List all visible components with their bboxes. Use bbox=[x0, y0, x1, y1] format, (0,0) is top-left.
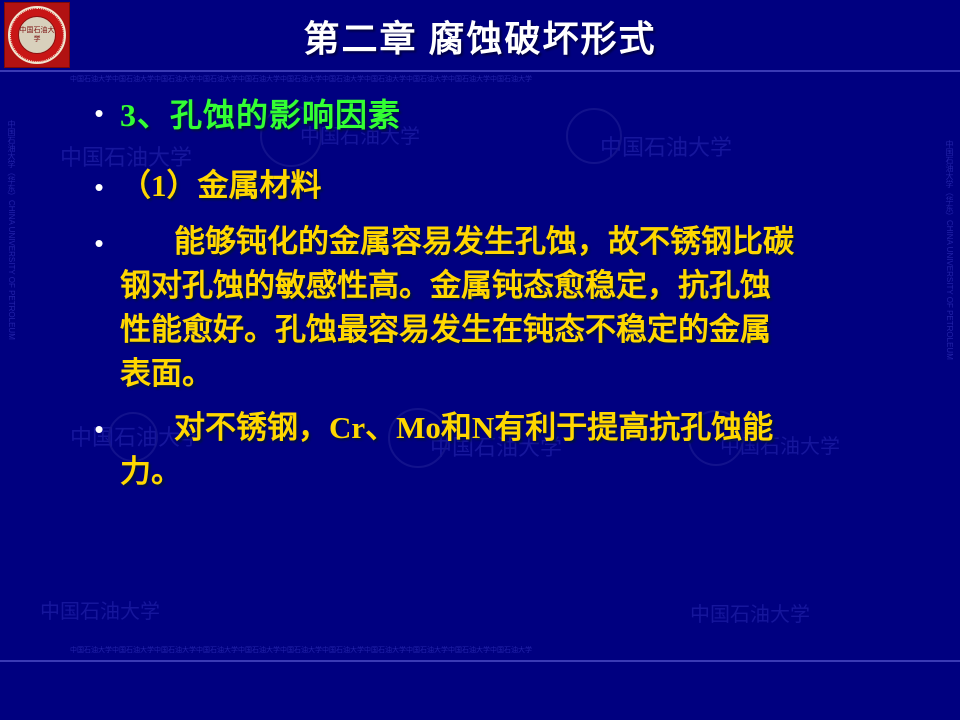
slide: 中国石油大学中国石油大学中国石油大学中国石油大学中国石油大学中国石油大学中国石油… bbox=[0, 0, 960, 720]
list-item: • 3、孔蚀的影响因素 bbox=[78, 90, 960, 136]
slide-content: • 3、孔蚀的影响因素 • （1）金属材料 • 能够钝化的金属容易发生孔蚀，故不… bbox=[0, 78, 960, 494]
subheading-metal-material: （1）金属材料 bbox=[120, 164, 960, 208]
bullet-marker: • bbox=[78, 220, 120, 256]
list-item: • 能够钝化的金属容易发生孔蚀，故不锈钢比碳钢对孔蚀的敏感性高。金属钝态愈稳定，… bbox=[78, 220, 960, 396]
header-divider bbox=[0, 70, 960, 72]
list-item: • （1）金属材料 bbox=[78, 164, 960, 208]
paragraph-passivation: 能够钝化的金属容易发生孔蚀，故不锈钢比碳钢对孔蚀的敏感性高。金属钝态愈稳定，抗孔… bbox=[120, 220, 800, 396]
bullet-marker: • bbox=[78, 406, 120, 442]
list-item: • 对不锈钢，Cr、Mo和N有利于提高抗孔蚀能力。 bbox=[78, 406, 960, 494]
watermark-strip: 中国石油大学中国石油大学中国石油大学中国石油大学中国石油大学中国石油大学中国石油… bbox=[70, 645, 532, 655]
bullet-marker: • bbox=[78, 164, 120, 200]
slide-header: 中国石油大学 第二章 腐蚀破坏形式 bbox=[0, 0, 960, 70]
watermark-brand: 中国石油大学 bbox=[40, 595, 160, 624]
heading-influencing-factors: 3、孔蚀的影响因素 bbox=[120, 90, 960, 136]
bullet-marker: • bbox=[78, 90, 120, 126]
watermark-brand: 中国石油大学 bbox=[690, 598, 810, 627]
paragraph-alloying-elements: 对不锈钢，Cr、Mo和N有利于提高抗孔蚀能力。 bbox=[120, 406, 800, 494]
page-title: 第二章 腐蚀破坏形式 bbox=[0, 10, 960, 62]
slide-footer: ◀上页 ◀下页 ◀返回 ◀回主目录 2020/6/30 66 bbox=[0, 662, 960, 720]
